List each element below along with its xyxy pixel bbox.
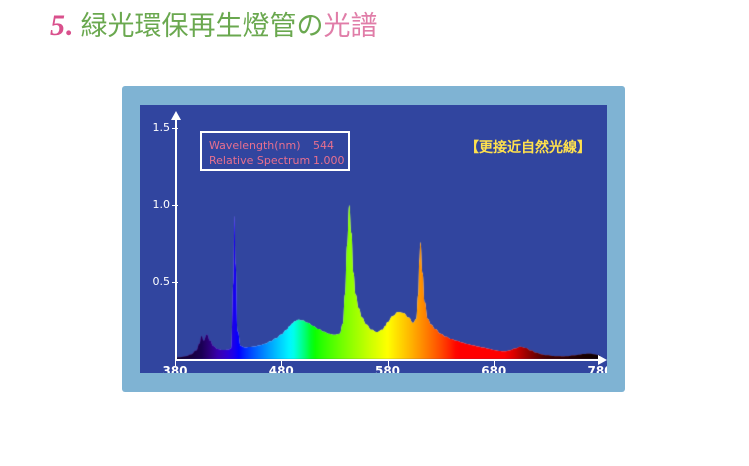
y-tick-mark-1.5 [172, 128, 178, 129]
y-tick-label-1.0: 1.0 [142, 198, 170, 211]
readout-label-relative-spectrum: Relative Spectrum [209, 154, 310, 167]
y-tick-mark-0.5 [172, 282, 178, 283]
y-axis-arrow-icon [171, 111, 181, 120]
y-tick-mark-1.0 [172, 205, 178, 206]
readout-legend-box: Wavelength(nm) 544 Relative Spectrum 1.0… [200, 131, 350, 171]
x-tick-label-480: 480 [259, 364, 303, 373]
title-segment-2: 光譜 [324, 11, 378, 41]
x-tick-label-680: 680 [472, 364, 516, 373]
readout-row-wavelength: Wavelength(nm) 544 [209, 139, 301, 152]
readout-value-relative-spectrum: 1.000 [313, 154, 345, 167]
title-number: 5. [50, 9, 75, 43]
readout-row-relative-spectrum: Relative Spectrum 1.000 [209, 154, 310, 167]
x-tick-label-780: 780 [578, 364, 607, 373]
title-segment-1: の [297, 11, 324, 41]
y-tick-label-1.5: 1.5 [142, 121, 170, 134]
title-text: 緑光環保再生燈管の光譜 [81, 4, 378, 43]
page-title: 5. 緑光環保再生燈管の光譜 [50, 4, 378, 43]
x-tick-label-380: 380 [153, 364, 197, 373]
y-axis-line [175, 119, 177, 361]
title-segment-0: 緑光環保再生燈管 [81, 11, 297, 41]
y-tick-label-0.5: 0.5 [142, 275, 170, 288]
readout-value-wavelength: 544 [313, 139, 334, 152]
spectrum-figure-frame: 0.51.01.5 380480580680780 Wavelength(nm)… [122, 86, 625, 392]
x-tick-label-580: 580 [366, 364, 410, 373]
spectrum-plot-panel: 0.51.01.5 380480580680780 Wavelength(nm)… [140, 105, 607, 373]
readout-label-wavelength: Wavelength(nm) [209, 139, 301, 152]
annotation-text: 【更接近自然光線】 [465, 137, 591, 157]
